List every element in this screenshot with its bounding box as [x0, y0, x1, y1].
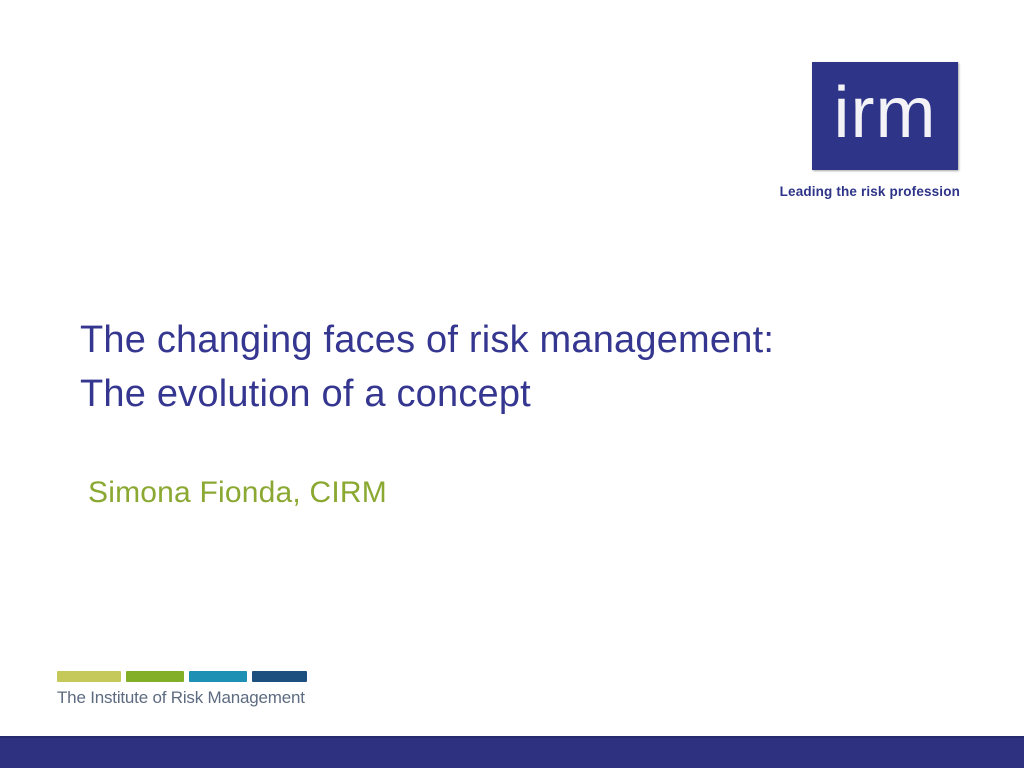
irm-logo-icon: irm [812, 62, 958, 170]
presentation-slide: irm Leading the risk profession The chan… [0, 0, 1024, 768]
institute-logo-bars-icon [57, 671, 313, 682]
logo-bar-olive-icon [57, 671, 121, 682]
irm-brand-block: irm Leading the risk profession [812, 62, 960, 170]
brand-tagline: Leading the risk profession [732, 184, 960, 199]
title-line-1: The changing faces of risk management: [80, 313, 960, 367]
logo-bar-navy-icon [252, 671, 307, 682]
title-block: The changing faces of risk management: T… [80, 288, 960, 447]
institute-name: The Institute of Risk Management [57, 688, 313, 708]
title-line-2: The evolution of a concept [80, 367, 960, 421]
page-title: The changing faces of risk management: T… [80, 313, 960, 421]
footer-band [0, 736, 1024, 768]
institute-logo: The Institute of Risk Management [57, 671, 313, 708]
logo-bar-teal-icon [189, 671, 247, 682]
author-name: Simona Fionda, CIRM [88, 476, 387, 510]
logo-bar-green-icon [126, 671, 184, 682]
irm-logo-text: irm [834, 77, 937, 155]
